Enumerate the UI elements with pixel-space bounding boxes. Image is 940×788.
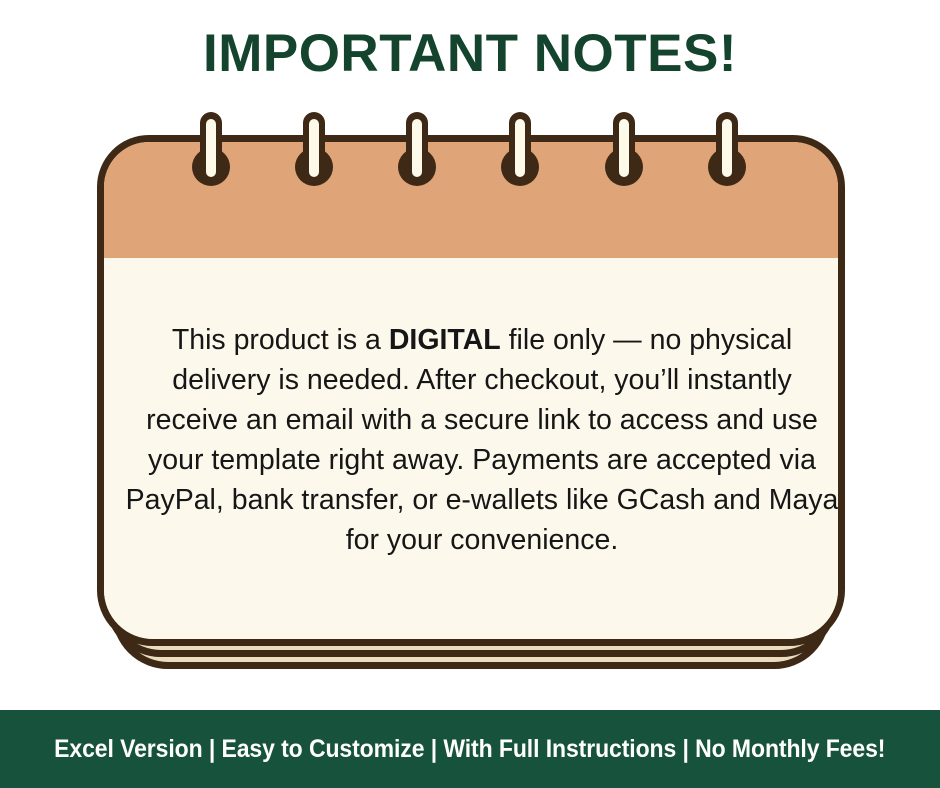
promo-graphic-root: IMPORTANT NOTES! This product is a DIGIT… bbox=[0, 0, 940, 788]
note-text-part-1: This product is a bbox=[172, 324, 389, 356]
note-body-text: This product is a DIGITAL file only — no… bbox=[124, 320, 840, 560]
note-text-emphasis: DIGITAL bbox=[389, 324, 501, 356]
notepad-header-band bbox=[104, 142, 838, 260]
note-text-part-2: file only — no physical delivery is need… bbox=[126, 324, 839, 556]
page-title: IMPORTANT NOTES! bbox=[0, 27, 940, 80]
footer-banner: Excel Version | Easy to Customize | With… bbox=[0, 710, 940, 788]
notepad-front-page: This product is a DIGITAL file only — no… bbox=[97, 135, 845, 646]
footer-feature-list: Excel Version | Easy to Customize | With… bbox=[54, 735, 885, 764]
notepad-illustration: This product is a DIGITAL file only — no… bbox=[93, 110, 849, 675]
